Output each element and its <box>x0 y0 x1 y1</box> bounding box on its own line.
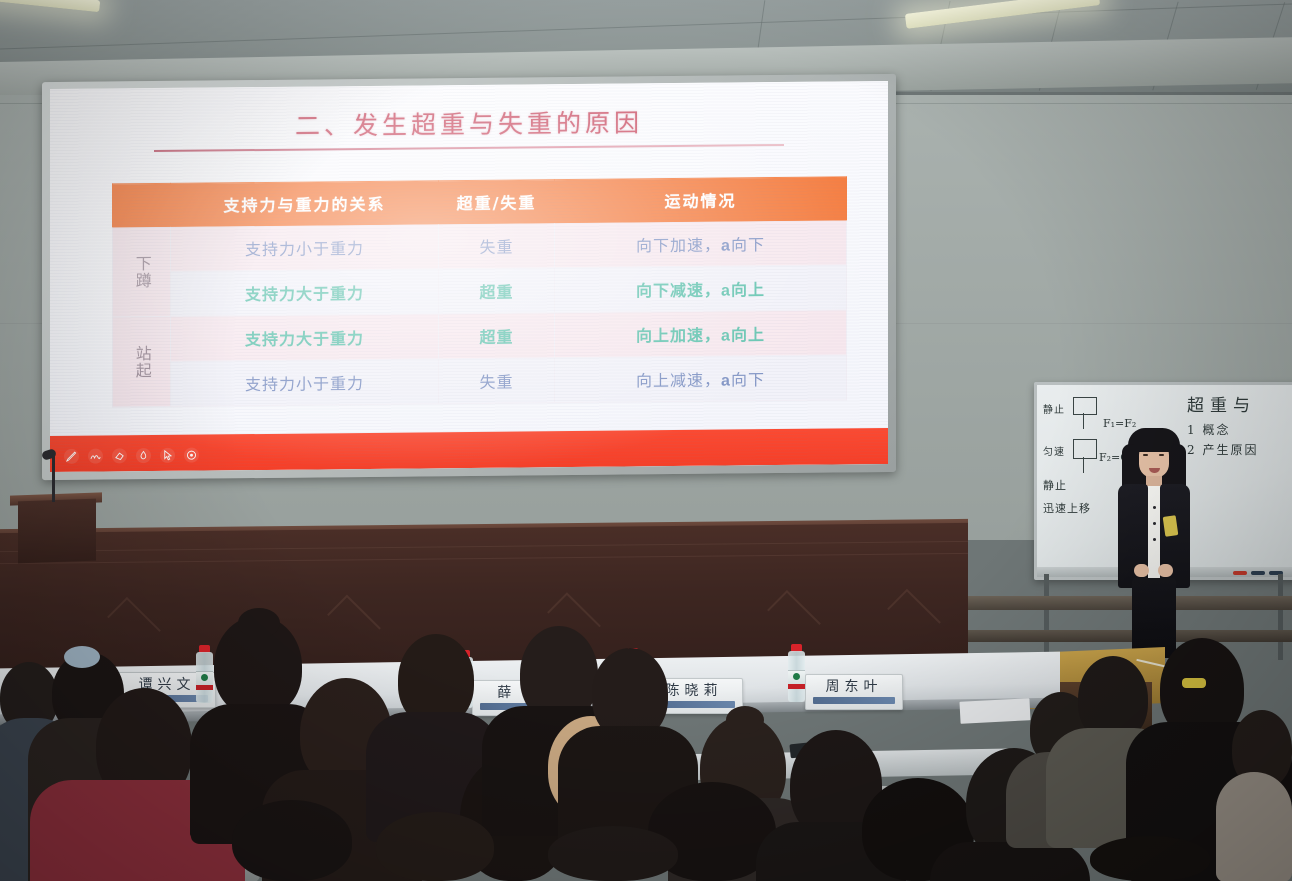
projection-screen-frame: 二、发生超重与失重的原因 支持力与重力的关系 超重/失重 运动情况 <box>42 74 896 480</box>
chair-back <box>1040 736 1126 772</box>
cell-state: 失重 <box>439 223 555 269</box>
cell-relation: 支持力小于重力 <box>171 359 439 407</box>
title-underline <box>154 144 784 152</box>
cell-relation: 支持力小于重力 <box>171 224 439 272</box>
nameplate: 陈晓莉 <box>645 678 743 714</box>
table-header-motion: 运动情况 <box>555 177 847 223</box>
cell-relation: 支持力大于重力 <box>171 314 439 362</box>
papers <box>959 698 1030 724</box>
teacher-eye <box>1159 454 1164 456</box>
table-header-corner <box>113 183 171 227</box>
cell-motion: 向上减速，a向下 <box>555 355 847 403</box>
teacher-name-badge <box>1163 515 1179 537</box>
table-row: 支持力大于重力 超重 向下减速，a向上 <box>113 265 847 317</box>
shirt-button <box>1153 506 1156 509</box>
row-group-label-standup: 站起 <box>113 316 171 407</box>
force-diagram-box <box>1073 439 1097 459</box>
table-row: 支持力小于重力 失重 向上减速，a向下 <box>113 355 847 407</box>
teacher-hand <box>1134 564 1149 577</box>
whiteboard-title: 超重与 <box>1187 391 1256 416</box>
whiteboard-note-label: 匀速 <box>1043 443 1065 458</box>
chair-back <box>140 832 260 881</box>
whiteboard-note-label: 静止 <box>1043 401 1065 416</box>
water-bottle <box>624 648 641 706</box>
nameplate: 薛 敏 <box>472 680 570 716</box>
shirt-button <box>1153 538 1156 541</box>
physics-comparison-table: 支持力与重力的关系 超重/失重 运动情况 下蹲 支持力小于重力 失重 向下加速，… <box>112 176 847 407</box>
chair-back <box>860 786 950 826</box>
force-arrow <box>1083 413 1084 429</box>
force-arrow <box>1083 457 1084 473</box>
cell-state: 超重 <box>439 313 555 359</box>
pen-icon[interactable] <box>64 449 79 464</box>
slideshow-annotation-toolbar[interactable] <box>64 448 199 464</box>
ink-color-icon[interactable] <box>136 448 151 463</box>
table-row: 下蹲 支持力小于重力 失重 向下加速，a向下 <box>113 220 847 272</box>
table-header-state: 超重/失重 <box>439 180 555 224</box>
whiteboard-note-label: 迅速上移 <box>1043 500 1091 516</box>
water-bottle <box>1252 838 1269 881</box>
row-group-label-squat: 下蹲 <box>113 226 171 317</box>
presentation-slide: 二、发生超重与失重的原因 支持力与重力的关系 超重/失重 运动情况 <box>50 81 888 472</box>
cell-motion: 向下加速，a向下 <box>555 220 847 268</box>
teacher-presenter <box>1108 428 1200 658</box>
shirt-button <box>1153 522 1156 525</box>
table-header-row: 支持力与重力的关系 超重/失重 运动情况 <box>113 177 847 227</box>
nameplate-name: 薛 敏 <box>497 686 544 700</box>
cell-relation: 支持力大于重力 <box>171 269 439 317</box>
cell-motion: 向上加速，a向上 <box>555 310 847 358</box>
nameplate-subtitle <box>480 703 562 710</box>
eraser-icon[interactable] <box>112 448 127 463</box>
nameplate: 周东叶 <box>805 674 903 710</box>
water-bottle <box>196 645 213 703</box>
microphone-stand <box>52 456 55 502</box>
highlighter-icon[interactable] <box>88 449 103 464</box>
table-row: 站起 支持力大于重力 超重 向上加速，a向上 <box>113 310 847 362</box>
slideshow-menu-icon[interactable] <box>184 448 199 463</box>
projection-screen: 二、发生超重与失重的原因 支持力与重力的关系 超重/失重 运动情况 <box>50 81 888 472</box>
teacher-eye <box>1143 454 1148 456</box>
chair-back <box>440 790 536 834</box>
water-bottle <box>788 644 805 702</box>
nameplate-subtitle <box>653 701 735 708</box>
classroom-photo: 二、发生超重与失重的原因 支持力与重力的关系 超重/失重 运动情况 <box>0 0 1292 881</box>
cell-state: 超重 <box>439 268 555 314</box>
table-header-relation: 支持力与重力的关系 <box>171 181 439 227</box>
cell-state: 失重 <box>439 358 555 404</box>
arrow-pointer-icon[interactable] <box>160 448 175 463</box>
whiteboard-note-label: 静止 <box>1043 477 1067 493</box>
papers <box>500 762 548 778</box>
teacher-trousers <box>1132 578 1176 658</box>
water-bottle <box>456 650 473 708</box>
nameplate-name: 谭兴文 <box>139 678 196 692</box>
cell-motion: 向下减速，a向上 <box>555 265 847 313</box>
nameplate-name: 陈晓莉 <box>666 684 723 698</box>
force-diagram-box <box>1073 397 1097 415</box>
side-podium <box>18 499 96 564</box>
lectern-body <box>1044 682 1152 732</box>
nameplate-name: 周东叶 <box>826 680 883 694</box>
teacher-hand <box>1158 564 1173 577</box>
slide-title: 二、发生超重与失重的原因 <box>50 101 888 145</box>
nameplate-subtitle <box>813 697 895 704</box>
